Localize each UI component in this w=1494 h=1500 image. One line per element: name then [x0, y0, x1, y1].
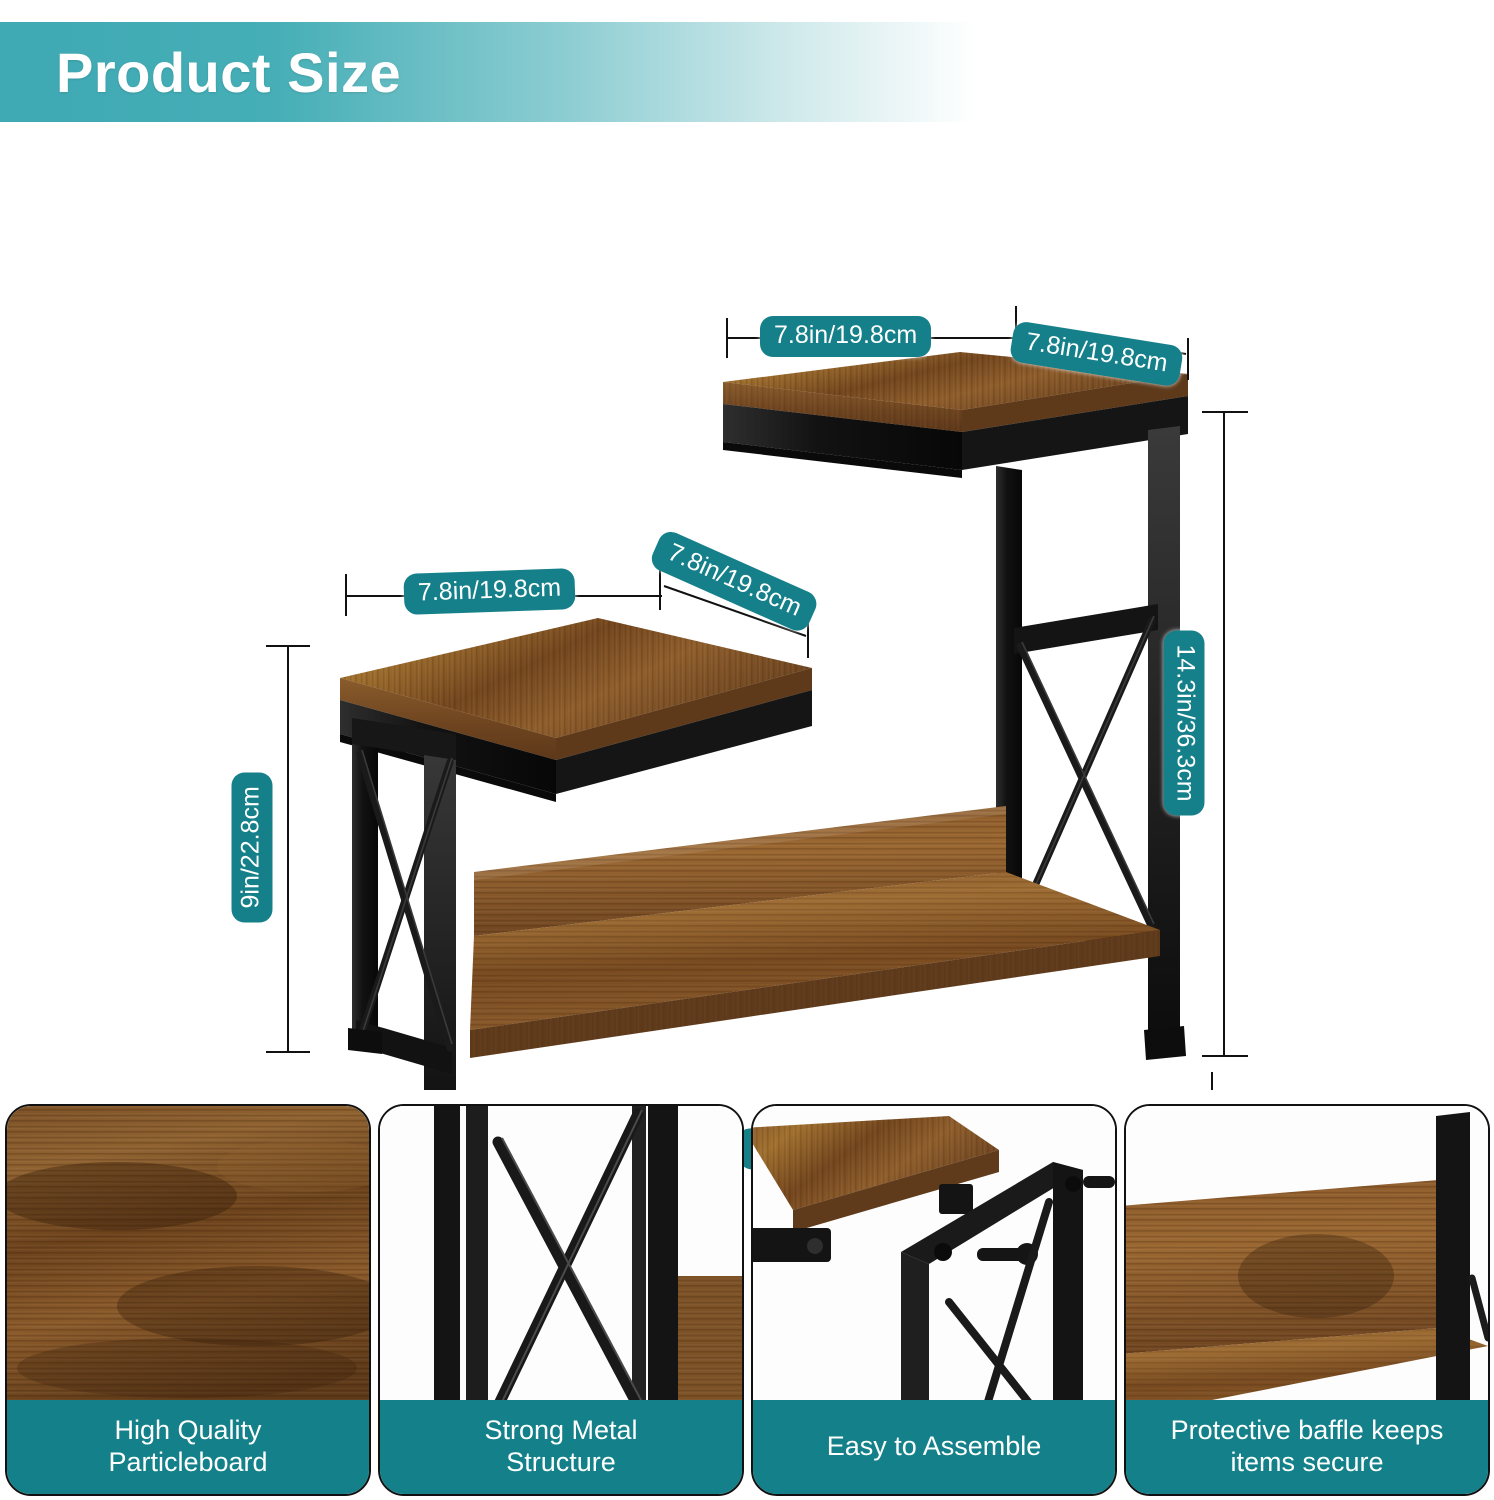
side-table-drawing: [0, 130, 1494, 1090]
lower-left-leg-frame: [348, 718, 462, 1090]
wood-baffle-icon: [1126, 1106, 1488, 1418]
feature-caption-4-line1: Protective baffle keeps: [1171, 1415, 1444, 1445]
feature-caption-4: Protective baffle keeps items secure: [1126, 1400, 1488, 1494]
dimension-label-total-height: 14.3in/36.3cm: [1164, 631, 1205, 816]
feature-caption-2-line2: Structure: [506, 1447, 616, 1477]
wood-texture-icon: [7, 1106, 369, 1418]
feature-panel-easy-to-assemble: Easy to Assemble: [751, 1104, 1117, 1496]
assembly-parts-icon: [753, 1106, 1115, 1418]
wood-texture-image: [7, 1106, 369, 1418]
metal-x-brace-image: [380, 1106, 742, 1418]
feature-caption-3: Easy to Assemble: [753, 1400, 1115, 1494]
feature-caption-1-line1: High Quality: [114, 1415, 261, 1445]
metal-x-brace-icon: [380, 1106, 742, 1418]
feature-panel-strong-metal-structure: Strong Metal Structure: [378, 1104, 744, 1496]
feature-caption-2: Strong Metal Structure: [380, 1400, 742, 1494]
assembly-parts-image: [753, 1106, 1115, 1418]
feature-caption-1: High Quality Particleboard: [7, 1400, 369, 1494]
dimension-label-top-shelf-width: 7.8in/19.8cm: [760, 316, 931, 357]
dimension-label-lower-height: 9in/22.8cm: [232, 772, 273, 922]
dimension-label-lower-shelf-width: 7.8in/19.8cm: [403, 568, 575, 615]
feature-caption-4-line2: items secure: [1230, 1447, 1383, 1477]
product-size-header: Product Size: [0, 22, 975, 122]
page-title: Product Size: [56, 40, 401, 105]
product-dimension-illustration: 7.8in/19.8cm 7.8in/19.8cm 7.8in/19.8cm 7…: [0, 130, 1494, 1090]
feature-panel-row: High Quality Particleboard: [0, 1104, 1494, 1500]
feature-panel-high-quality-particleboard: High Quality Particleboard: [5, 1104, 371, 1496]
wood-baffle-image: [1126, 1106, 1488, 1418]
feature-caption-2-line1: Strong Metal: [484, 1415, 637, 1445]
feature-caption-3-line1: Easy to Assemble: [827, 1431, 1042, 1461]
feature-caption-1-line2: Particleboard: [108, 1447, 267, 1477]
feature-panel-protective-baffle: Protective baffle keeps items secure: [1124, 1104, 1490, 1496]
